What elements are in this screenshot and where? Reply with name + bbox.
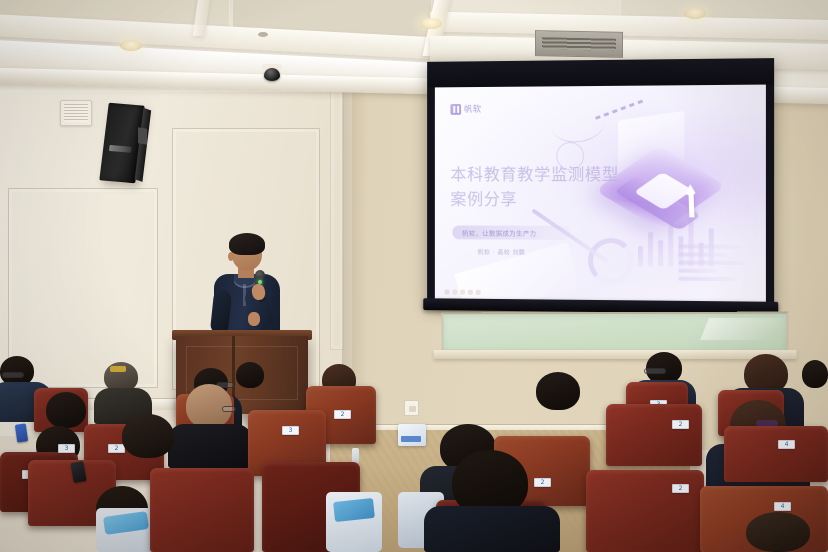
slide-title-line2: 案例分享	[450, 187, 648, 212]
bose-logo-icon	[109, 145, 132, 153]
audience-shoulders	[424, 506, 560, 552]
slide-bg-dashes	[595, 99, 645, 120]
wall-panel-edge	[330, 60, 344, 350]
fanruan-logo: 帆软	[450, 103, 481, 115]
slide-bg-lines	[678, 244, 749, 285]
seat-number-plate: 2	[672, 420, 689, 429]
recessed-downlight-icon	[684, 8, 706, 19]
presentation-slide: 帆软 本科教育教学监测模型 案例分享 帆软，让数据成为生产力 帆软 · 高校 刘…	[435, 85, 766, 302]
slide-footer-icons	[445, 290, 481, 295]
eyeglasses-icon	[2, 372, 24, 378]
presenter-hand	[248, 312, 260, 326]
hvac-air-vent	[535, 30, 623, 58]
recessed-downlight-icon	[120, 40, 142, 51]
slide-bg-wave	[551, 116, 607, 145]
hair-clip	[110, 366, 126, 372]
eyeglasses-icon	[644, 368, 666, 374]
audience-head	[746, 512, 810, 552]
dome-security-camera-icon	[264, 68, 280, 81]
slide-title: 本科教育教学监测模型 案例分享	[450, 162, 648, 212]
bag-graphic	[333, 498, 375, 522]
board-glare	[700, 318, 781, 340]
audience-head-curly	[122, 414, 174, 458]
eyeglasses-icon	[222, 406, 236, 412]
slide-tagline-text: 帆软，让数据成为生产力	[462, 227, 536, 237]
auditorium-seat[interactable]	[150, 468, 254, 552]
presenter-ear	[228, 252, 234, 261]
lecture-hall-photo: 帆软 本科教育教学监测模型 案例分享 帆软，让数据成为生产力 帆软 · 高校 刘…	[0, 0, 828, 552]
slide-presenter-credit: 帆软 · 高校 刘鹏	[478, 247, 526, 256]
fanruan-logo-icon	[450, 103, 461, 114]
audience-shoulders	[168, 424, 252, 468]
ceiling-speaker-icon	[258, 32, 268, 37]
seat-number-plate: 4	[774, 502, 791, 511]
tissue-box	[398, 424, 426, 446]
audience-head	[46, 392, 86, 428]
speaker-bracket	[138, 127, 147, 145]
chalk-tray	[434, 350, 797, 359]
slide-title-line1: 本科教育教学监测模型	[450, 165, 619, 184]
screen-top-casing	[427, 58, 774, 87]
seat-number-plate: 2	[672, 484, 689, 493]
auditorium-seat[interactable]	[724, 426, 828, 482]
wall-vent-grille	[60, 100, 92, 126]
wall-panel-moulding	[8, 188, 158, 388]
auditorium-seat[interactable]	[606, 404, 702, 466]
smartphone[interactable]	[15, 423, 28, 442]
projection-screen: 帆软 本科教育教学监测模型 案例分享 帆软，让数据成为生产力 帆软 · 高校 刘…	[427, 58, 774, 310]
slide-tagline-banner: 帆软，让数据成为生产力	[452, 225, 570, 239]
auditorium-seat[interactable]	[586, 470, 704, 552]
seat-number-plate: 3	[282, 426, 299, 435]
presenter-hair	[229, 233, 265, 255]
audience-head	[802, 360, 828, 388]
seat-number-plate: 2	[334, 410, 351, 419]
seat-number-plate: 3	[58, 444, 75, 453]
green-whiteboard	[441, 312, 788, 353]
wall-power-outlet	[404, 400, 419, 416]
fanruan-logo-text: 帆软	[464, 103, 482, 115]
seat-number-plate: 4	[778, 440, 795, 449]
audience-head	[536, 372, 580, 410]
recessed-downlight-icon	[420, 18, 442, 29]
seat-number-plate: 2	[534, 478, 551, 487]
audience-head	[236, 362, 264, 388]
